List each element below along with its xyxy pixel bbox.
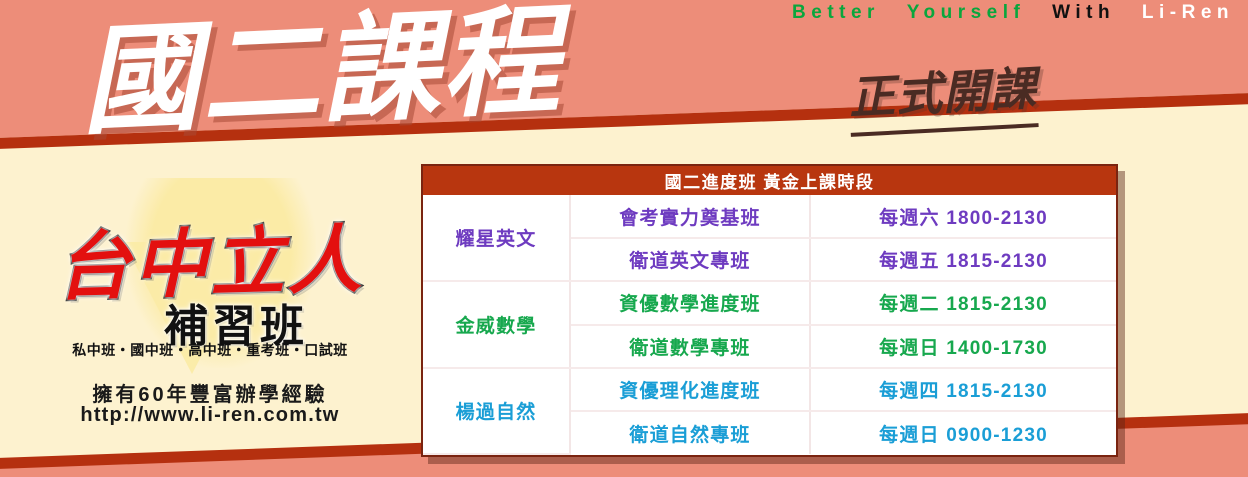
class-time-cell: 每週日 0900-1230: [810, 411, 1116, 454]
schedule-table-card: 國二進度班 黃金上課時段 耀星英文會考實力奠基班每週六 1800-2130衛道英…: [421, 164, 1118, 457]
schedule-table: 耀星英文會考實力奠基班每週六 1800-2130衛道英文專班每週五 1815-2…: [423, 195, 1116, 455]
subheadline: 正式開課: [847, 52, 1039, 137]
course-name-cell: 衛道英文專班: [570, 238, 810, 281]
subject-cell: 金威數學: [423, 281, 570, 367]
class-time-cell: 每週六 1800-2130: [810, 195, 1116, 238]
tagline-word-yourself: Yourself: [907, 2, 1026, 23]
tagline-word-better: Better: [792, 2, 880, 23]
tagline-word-liren: Li-Ren: [1142, 2, 1234, 23]
brand-logo: 台中立人 補習班 私中班・國中班・高中班・重考班・口試班 擁有60年豐富辦學經驗…: [30, 182, 390, 422]
course-name-cell: 衛道自然專班: [570, 411, 810, 454]
class-time-cell: 每週四 1815-2130: [810, 368, 1116, 411]
course-name-cell: 衛道數學專班: [570, 325, 810, 368]
table-row: 耀星英文會考實力奠基班每週六 1800-2130: [423, 195, 1116, 238]
table-row: 楊過自然資優理化進度班每週四 1815-2130: [423, 368, 1116, 411]
tagline-word-with: With: [1052, 2, 1115, 23]
course-name-cell: 資優數學進度班: [570, 281, 810, 324]
english-tagline: Better Yourself With Li-Ren: [792, 2, 1234, 24]
course-name-cell: 會考實力奠基班: [570, 195, 810, 238]
logo-class-list: 私中班・國中班・高中班・重考班・口試班: [30, 340, 390, 360]
subject-cell: 耀星英文: [423, 195, 570, 281]
class-time-cell: 每週日 1400-1730: [810, 325, 1116, 368]
logo-website-url[interactable]: http://www.li-ren.com.tw: [30, 404, 390, 427]
course-name-cell: 資優理化進度班: [570, 368, 810, 411]
schedule-table-header: 國二進度班 黃金上課時段: [423, 166, 1116, 195]
promo-banner: Better Yourself With Li-Ren 國二課程 正式開課 台中…: [0, 0, 1248, 477]
logo-experience-text: 擁有60年豐富辦學經驗: [30, 378, 390, 407]
class-time-cell: 每週二 1815-2130: [810, 281, 1116, 324]
page-title: 國二課程: [78, 0, 564, 150]
table-row: 金威數學資優數學進度班每週二 1815-2130: [423, 281, 1116, 324]
class-time-cell: 每週五 1815-2130: [810, 238, 1116, 281]
subject-cell: 楊過自然: [423, 368, 570, 454]
